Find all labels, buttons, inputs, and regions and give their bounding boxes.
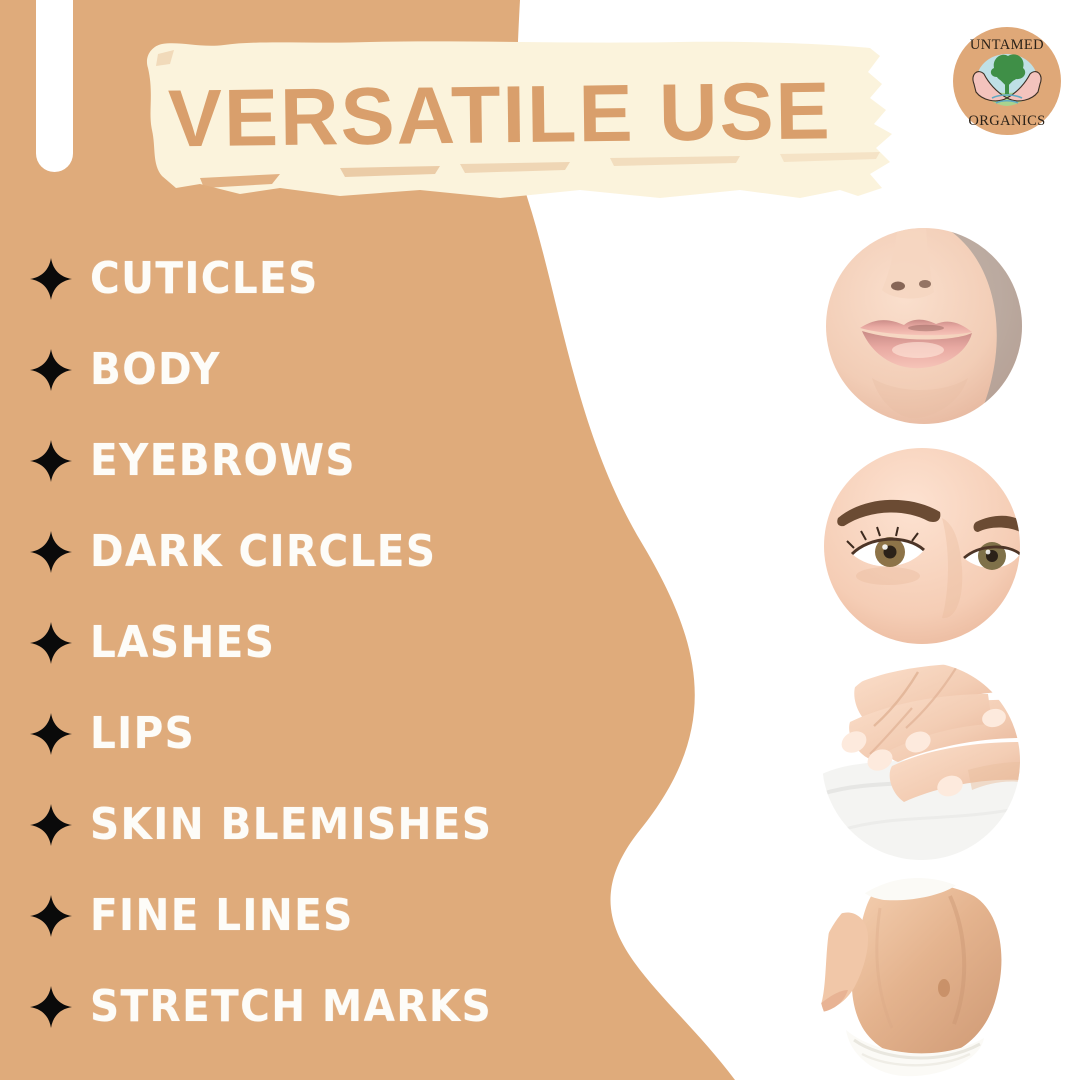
list-item[interactable]: STRETCH MARKS: [30, 961, 550, 1052]
list-item[interactable]: LIPS: [30, 688, 550, 779]
list-item[interactable]: EYEBROWS: [30, 415, 550, 506]
accent-bar: [36, 0, 73, 172]
feature-label: LASHES: [90, 617, 275, 668]
hands-nails-closeup-photo: [822, 662, 1020, 860]
feature-label: DARK CIRCLES: [90, 526, 436, 577]
feature-label: CUTICLES: [90, 253, 319, 304]
four-point-star-icon: [30, 622, 72, 664]
four-point-star-icon: [30, 440, 72, 482]
lips-closeup-photo: [826, 228, 1022, 424]
four-point-star-icon: [30, 531, 72, 573]
feature-label: EYEBROWS: [90, 435, 356, 486]
feature-label: SKIN BLEMISHES: [90, 799, 492, 850]
feature-label: BODY: [90, 344, 221, 395]
feature-label: FINE LINES: [90, 890, 354, 941]
svg-text:ORGANICS: ORGANICS: [968, 113, 1045, 129]
four-point-star-icon: [30, 258, 72, 300]
list-item[interactable]: BODY: [30, 324, 550, 415]
torso-belly-closeup-photo: [818, 878, 1018, 1078]
feature-label: LIPS: [90, 708, 195, 759]
list-item[interactable]: SKIN BLEMISHES: [30, 779, 550, 870]
four-point-star-icon: [30, 713, 72, 755]
feature-list: CUTICLES BODY EYEBROWS DARK CIRCLES LASH: [30, 233, 550, 1052]
list-item[interactable]: FINE LINES: [30, 870, 550, 961]
versatile-use-infographic: VERSATILE USE UNTAMED ORGANICS CUTICLES: [0, 0, 1080, 1080]
four-point-star-icon: [30, 986, 72, 1028]
four-point-star-icon: [30, 804, 72, 846]
list-item[interactable]: LASHES: [30, 597, 550, 688]
four-point-star-icon: [30, 349, 72, 391]
svg-text:UNTAMED: UNTAMED: [970, 37, 1044, 53]
list-item[interactable]: CUTICLES: [30, 233, 550, 324]
four-point-star-icon: [30, 895, 72, 937]
brand-logo[interactable]: UNTAMED ORGANICS: [952, 26, 1062, 136]
feature-label: STRETCH MARKS: [90, 981, 492, 1032]
eyebrows-eyes-closeup-photo: [824, 448, 1020, 644]
list-item[interactable]: DARK CIRCLES: [30, 506, 550, 597]
page-title: VERSATILE USE: [168, 69, 889, 163]
